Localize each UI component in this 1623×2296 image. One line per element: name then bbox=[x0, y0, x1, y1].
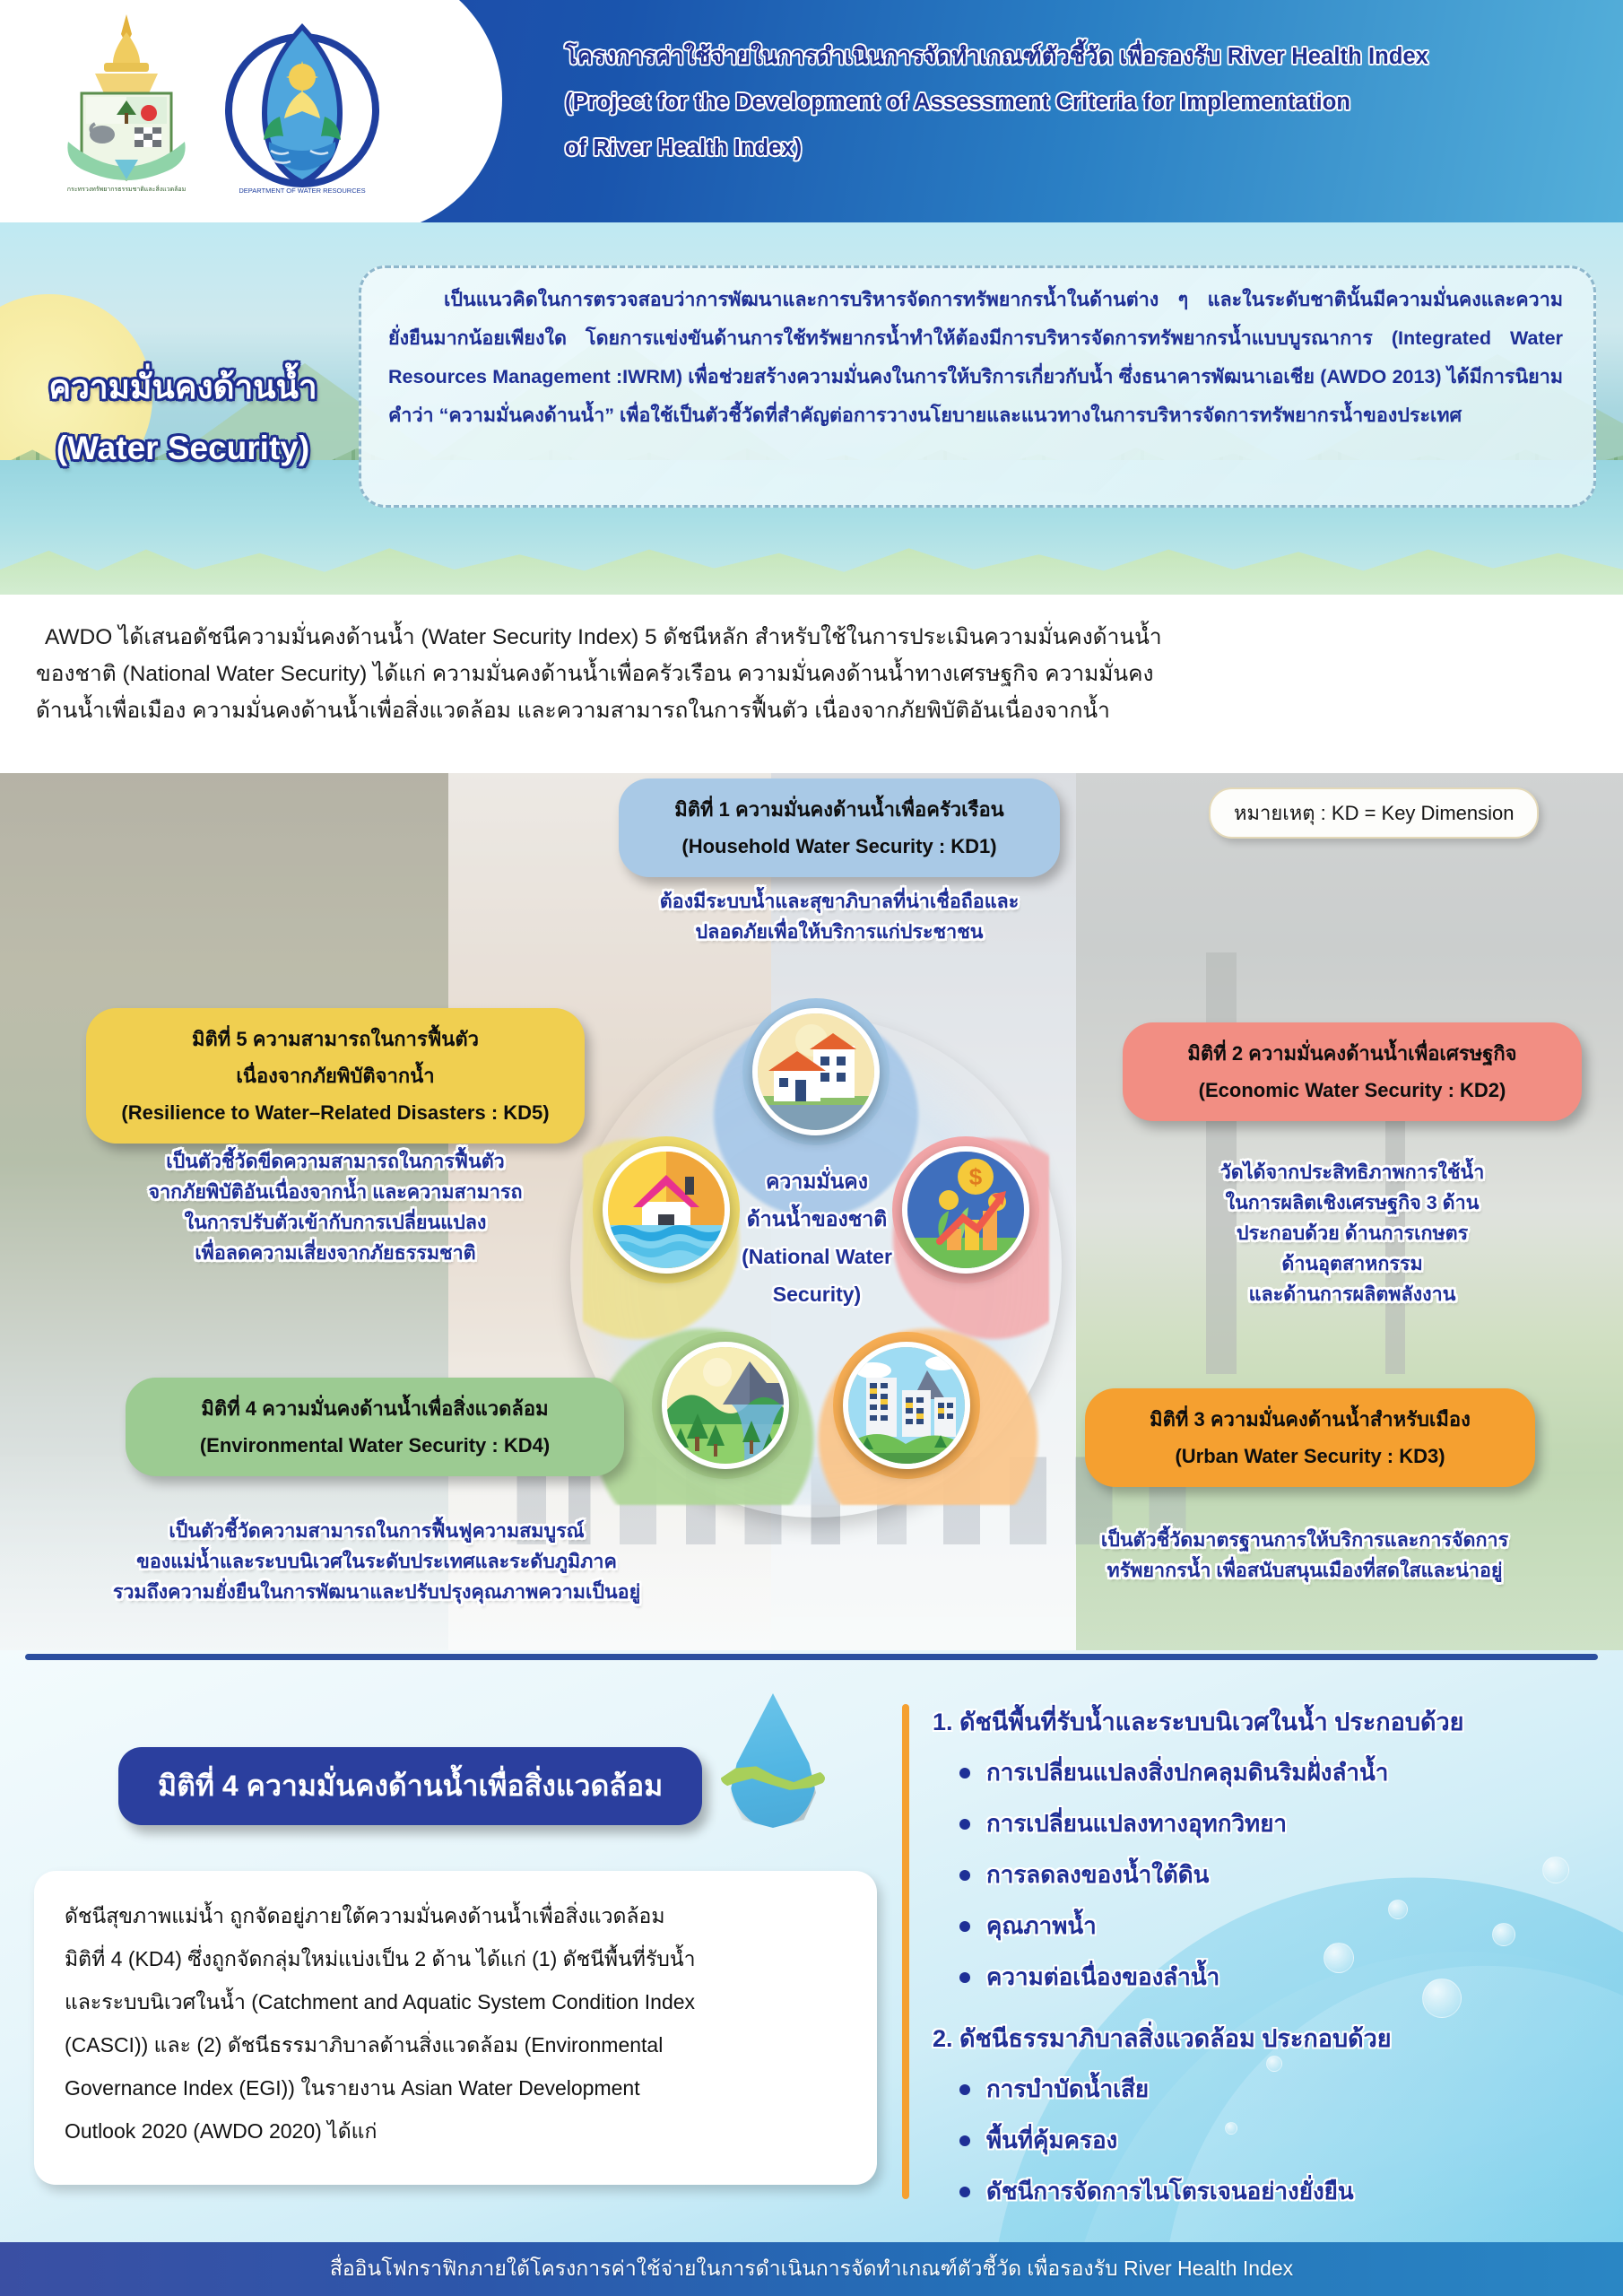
bullet-icon bbox=[959, 1921, 970, 1932]
list-item: การเปลี่ยนแปลงสิ่งปกคลุมดินริมฝั่งลำน้ำ bbox=[933, 1747, 1614, 1798]
kd5-desc-line: เพื่อลดความเสี่ยงจากภัยธรรมชาติ bbox=[86, 1238, 585, 1268]
bullet-icon bbox=[959, 2135, 970, 2146]
kd2-description: วัดได้จากประสิทธิภาพการใช้น้ำ ในการผลิตเ… bbox=[1123, 1157, 1582, 1309]
awdo-line: ของชาติ (National Water Security) ได้แก่… bbox=[36, 656, 1596, 692]
center-label-line: (National Water bbox=[699, 1238, 934, 1275]
list-item-label: พื้นที่คุ้มครอง bbox=[986, 2115, 1117, 2166]
center-label-line: ด้านน้ำของชาติ bbox=[699, 1200, 934, 1238]
bullet-icon bbox=[959, 1870, 970, 1881]
intro-definition-box: เป็นแนวคิดในการตรวจสอบว่าการพัฒนาและการบ… bbox=[359, 265, 1596, 508]
svg-text:$: $ bbox=[969, 1163, 983, 1190]
bullet-icon bbox=[959, 2084, 970, 2095]
group-1-heading: 1. ดัชนีพื้นที่รับน้ำและระบบนิเวศในน้ำ ป… bbox=[933, 1697, 1614, 1747]
water-security-label-en: (Water Security) bbox=[13, 418, 353, 479]
kd1-title-box: มิติที่ 1 ความมั่นคงด้านน้ำเพื่อครัวเรือ… bbox=[619, 778, 1060, 877]
diagram-center-label: ความมั่นคง ด้านน้ำของชาติ (National Wate… bbox=[699, 1162, 934, 1313]
urban-city-buildings-icon bbox=[843, 1342, 970, 1469]
national-water-security-flower-diagram: $ bbox=[556, 1003, 1076, 1541]
vertical-orange-divider bbox=[902, 1704, 909, 2199]
kd5-desc-line: จากภัยพิบัติอันเนื่องจากน้ำ และความสามาร… bbox=[86, 1177, 585, 1207]
page-title-line-2: (Project for the Development of Assessme… bbox=[565, 80, 1596, 126]
page-title-line-3: of River Health Index) bbox=[565, 126, 1596, 171]
list-item-label: การบำบัดน้ำเสีย bbox=[986, 2064, 1149, 2115]
awdo-summary-paragraph: AWDO ได้เสนอดัชนีความมั่นคงด้านน้ำ (Wate… bbox=[36, 619, 1596, 729]
list-item: การบำบัดน้ำเสีย bbox=[933, 2064, 1614, 2115]
page-header: กระทรวงทรัพยากรธรรมชาติและสิ่งแวดล้อม bbox=[0, 0, 1623, 222]
page-title-line-1: โครงการค่าใช้จ่ายในการดำเนินการจัดทำเกณฑ… bbox=[565, 34, 1596, 80]
list-item-label: การเปลี่ยนแปลงทางอุทกวิทยา bbox=[986, 1798, 1287, 1849]
kd5-title-th-2: เนื่องจากภัยพิบัติจากน้ำ bbox=[109, 1057, 561, 1094]
group-2-heading: 2. ดัชนีธรรมาภิบาลสิ่งแวดล้อม ประกอบด้วย bbox=[933, 2013, 1614, 2064]
kd5-desc-line: เป็นตัวชี้วัดขีดความสามารถในการฟื้นตัว bbox=[86, 1146, 585, 1177]
list-item: คุณภาพน้ำ bbox=[933, 1900, 1614, 1952]
kd-abbreviation-note: หมายเหตุ : KD = Key Dimension bbox=[1209, 787, 1539, 839]
kd4-desc-line: รวมถึงความยั่งยืนในการพัฒนาและปรับปรุงคุ… bbox=[63, 1577, 690, 1607]
kd2-desc-line: ประกอบด้วย ด้านการเกษตร bbox=[1123, 1218, 1582, 1248]
kd4-title-box: มิติที่ 4 ความมั่นคงด้านน้ำเพื่อสิ่งแวดล… bbox=[126, 1378, 624, 1476]
kd5-title-th-1: มิติที่ 5 ความสามารถในการฟื้นตัว bbox=[109, 1021, 561, 1057]
department-of-water-resources-emblem: DEPARTMENT OF WATER RESOURCES bbox=[224, 7, 381, 204]
list-item-label: ความต่อเนื่องของลำน้ำ bbox=[986, 1952, 1219, 2003]
center-label-line: ความมั่นคง bbox=[699, 1162, 934, 1200]
kd1-title-th: มิติที่ 1 ความมั่นคงด้านน้ำเพื่อครัวเรือ… bbox=[642, 791, 1037, 828]
awdo-line: ด้านน้ำเพื่อเมือง ความมั่นคงด้านน้ำเพื่อ… bbox=[36, 692, 1596, 729]
kd4-description: เป็นตัวชี้วัดความสามารถในการฟื้นฟูความสม… bbox=[63, 1516, 690, 1607]
kd5-title-box: มิติที่ 5 ความสามารถในการฟื้นตัว เนื่องจ… bbox=[86, 1008, 585, 1144]
kd4-explanation-line: และระบบนิเวศในน้ำ (Catchment and Aquatic… bbox=[65, 1980, 846, 2023]
kd1-description: ต้องมีระบบน้ำและสุขาภิบาลที่น่าเชื่อถือแ… bbox=[619, 886, 1060, 947]
list-item: ความต่อเนื่องของลำน้ำ bbox=[933, 1952, 1614, 2003]
list-item-label: คุณภาพน้ำ bbox=[986, 1900, 1097, 1952]
environment-forest-river-icon bbox=[662, 1342, 789, 1469]
kd3-title-th: มิติที่ 3 ความมั่นคงด้านน้ำสำหรับเมือง bbox=[1108, 1401, 1512, 1438]
kd2-desc-line: ในการผลิตเชิงเศรษฐกิจ 3 ด้าน bbox=[1123, 1187, 1582, 1218]
kd5-title-en: (Resilience to Water–Related Disasters :… bbox=[109, 1094, 561, 1131]
kd4-explanation-line: มิติที่ 4 (KD4) ซึ่งถูกจัดกลุ่มใหม่แบ่งเ… bbox=[65, 1937, 846, 1980]
kd3-title-en: (Urban Water Security : KD3) bbox=[1108, 1438, 1512, 1474]
list-item: การเปลี่ยนแปลงทางอุทกวิทยา bbox=[933, 1798, 1614, 1849]
list-item-label: การเปลี่ยนแปลงสิ่งปกคลุมดินริมฝั่งลำน้ำ bbox=[986, 1747, 1388, 1798]
footer-text: สื่ออินโฟกราฟิกภายใต้โครงการค่าใช้จ่ายใน… bbox=[330, 2253, 1293, 2285]
kd4-desc-line: ของแม่น้ำและระบบนิเวศในระดับประเทศและระด… bbox=[63, 1546, 690, 1577]
kd4-explanation-line: ดัชนีสุขภาพแม่น้ำ ถูกจัดอยู่ภายใต้ความมั… bbox=[65, 1894, 846, 1937]
bullet-icon bbox=[959, 2187, 970, 2197]
kd2-desc-line: และด้านการผลิตพลังงาน bbox=[1123, 1279, 1582, 1309]
bullet-icon bbox=[959, 1768, 970, 1779]
kd4-explanation-line: Governance Index (EGI)) ในรายงาน Asian W… bbox=[65, 2066, 846, 2109]
logo-group: กระทรวงทรัพยากรธรรมชาติและสิ่งแวดล้อม bbox=[41, 7, 381, 204]
svg-text:กระทรวงทรัพยากรธรรมชาติและสิ่ง: กระทรวงทรัพยากรธรรมชาติและสิ่งแวดล้อม bbox=[67, 185, 186, 193]
kd4-title-th: มิติที่ 4 ความมั่นคงด้านน้ำเพื่อสิ่งแวดล… bbox=[149, 1390, 601, 1427]
water-security-label: ความมั่นคงด้านน้ำ (Water Security) bbox=[13, 357, 353, 479]
infographic-page: กระทรวงทรัพยากรธรรมชาติและสิ่งแวดล้อม bbox=[0, 0, 1623, 2296]
kd2-title-th: มิติที่ 2 ความมั่นคงด้านน้ำเพื่อเศรษฐกิจ bbox=[1146, 1035, 1558, 1072]
page-title: โครงการค่าใช้จ่ายในการดำเนินการจัดทำเกณฑ… bbox=[565, 34, 1596, 171]
intro-definition-text: เป็นแนวคิดในการตรวจสอบว่าการพัฒนาและการบ… bbox=[388, 281, 1563, 435]
kd4-explanation-card: ดัชนีสุขภาพแม่น้ำ ถูกจัดอยู่ภายใต้ความมั… bbox=[34, 1871, 877, 2185]
kd4-banner: มิติที่ 4 ความมั่นคงด้านน้ำเพื่อสิ่งแวดล… bbox=[118, 1747, 702, 1825]
kd3-title-box: มิติที่ 3 ความมั่นคงด้านน้ำสำหรับเมือง (… bbox=[1085, 1388, 1535, 1487]
index-groups-list: 1. ดัชนีพื้นที่รับน้ำและระบบนิเวศในน้ำ ป… bbox=[933, 1697, 1614, 2217]
kd3-desc-line: เป็นตัวชี้วัดมาตรฐานการให้บริการและการจั… bbox=[1013, 1525, 1596, 1555]
list-item-label: การลดลงของน้ำใต้ดิน bbox=[986, 1849, 1209, 1900]
svg-text:DEPARTMENT OF WATER RESOURCES: DEPARTMENT OF WATER RESOURCES bbox=[239, 187, 365, 195]
kd2-desc-line: ด้านอุตสาหกรรม bbox=[1123, 1248, 1582, 1279]
list-item-label: ดัชนีการจัดการไนโตรเจนอย่างยั่งยืน bbox=[986, 2166, 1354, 2217]
kd5-desc-line: ในการปรับตัวเข้ากับการเปลี่ยนแปลง bbox=[86, 1207, 585, 1238]
water-drop-leaf-icon bbox=[717, 1693, 827, 1855]
ministry-of-natural-resources-emblem: กระทรวงทรัพยากรธรรมชาติและสิ่งแวดล้อม bbox=[41, 7, 212, 204]
kd1-title-en: (Household Water Security : KD1) bbox=[642, 828, 1037, 865]
awdo-line: AWDO ได้เสนอดัชนีความมั่นคงด้านน้ำ (Wate… bbox=[36, 619, 1596, 656]
kd4-explanation-line: (CASCI)) และ (2) ดัชนีธรรมาภิบาลด้านสิ่ง… bbox=[65, 2023, 846, 2066]
kd4-explanation-line: Outlook 2020 (AWDO 2020) ได้แก่ bbox=[65, 2109, 846, 2152]
kd4-title-en: (Environmental Water Security : KD4) bbox=[149, 1427, 601, 1464]
kd4-explanation-text: ดัชนีสุขภาพแม่น้ำ ถูกจัดอยู่ภายใต้ความมั… bbox=[65, 1894, 846, 2152]
center-label-line: Security) bbox=[699, 1275, 934, 1313]
household-house-icon bbox=[752, 1008, 880, 1135]
list-item: การลดลงของน้ำใต้ดิน bbox=[933, 1849, 1614, 1900]
page-footer: สื่ออินโฟกราฟิกภายใต้โครงการค่าใช้จ่ายใน… bbox=[0, 2242, 1623, 2296]
kd3-description: เป็นตัวชี้วัดมาตรฐานการให้บริการและการจั… bbox=[1013, 1525, 1596, 1586]
kd4-desc-line: เป็นตัวชี้วัดความสามารถในการฟื้นฟูความสม… bbox=[63, 1516, 690, 1546]
bullet-icon bbox=[959, 1972, 970, 1983]
kd5-description: เป็นตัวชี้วัดขีดความสามารถในการฟื้นตัว จ… bbox=[86, 1146, 585, 1268]
kd3-desc-line: ทรัพยากรน้ำ เพื่อสนับสนุนเมืองที่สดใสและ… bbox=[1013, 1555, 1596, 1586]
kd2-desc-line: วัดได้จากประสิทธิภาพการใช้น้ำ bbox=[1123, 1157, 1582, 1187]
list-item: พื้นที่คุ้มครอง bbox=[933, 2115, 1614, 2166]
bullet-icon bbox=[959, 1819, 970, 1830]
section-divider-rule bbox=[25, 1654, 1598, 1660]
kd2-title-en: (Economic Water Security : KD2) bbox=[1146, 1072, 1558, 1109]
kd1-desc-line: ต้องมีระบบน้ำและสุขาภิบาลที่น่าเชื่อถือแ… bbox=[619, 886, 1060, 917]
water-reflection-shape bbox=[0, 532, 1623, 595]
water-security-label-th: ความมั่นคงด้านน้ำ bbox=[13, 357, 353, 418]
kd1-desc-line: ปลอดภัยเพื่อให้บริการแก่ประชาชน bbox=[619, 917, 1060, 947]
kd2-title-box: มิติที่ 2 ความมั่นคงด้านน้ำเพื่อเศรษฐกิจ… bbox=[1123, 1022, 1582, 1121]
list-item: ดัชนีการจัดการไนโตรเจนอย่างยั่งยืน bbox=[933, 2166, 1614, 2217]
